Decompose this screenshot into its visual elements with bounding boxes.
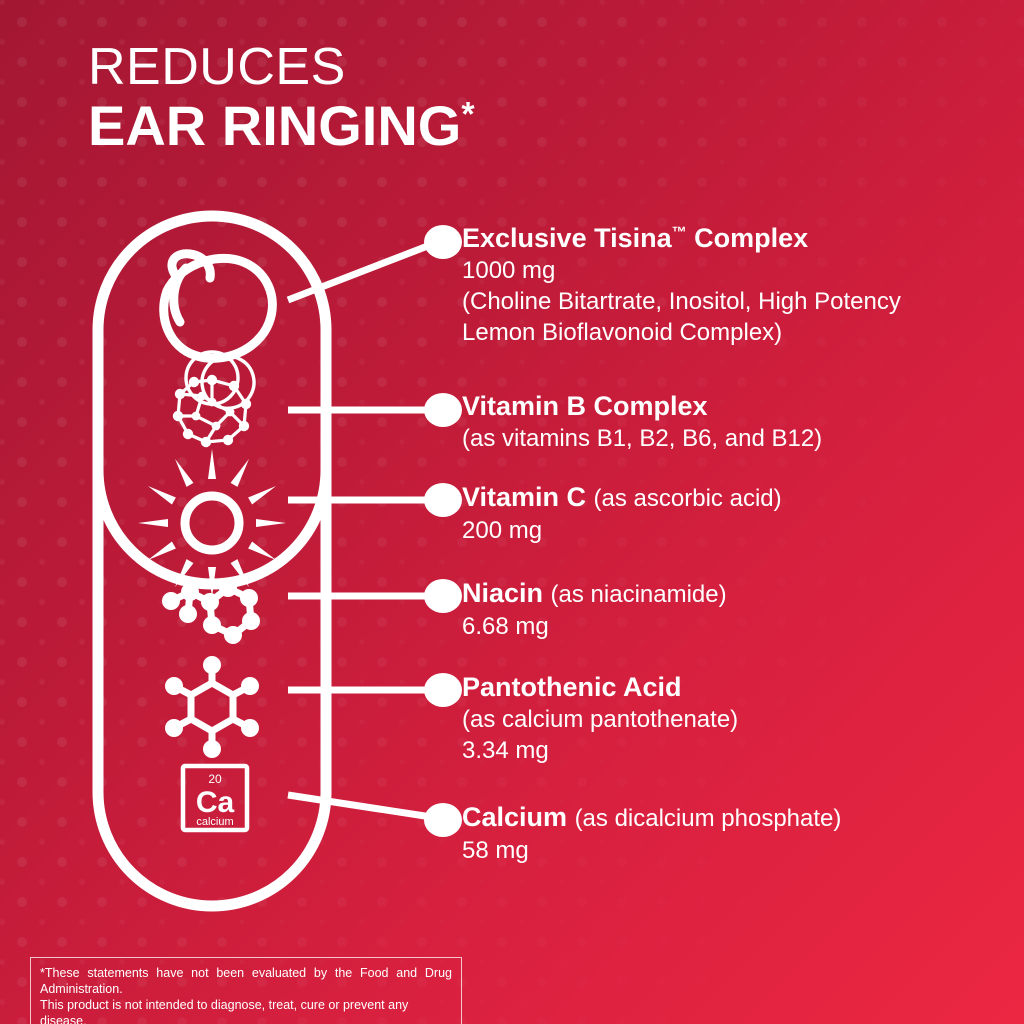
ingredient-subtitle: (as ascorbic acid) xyxy=(594,485,782,512)
ingredient-item-pantothenic-acid: Pantothenic Acid (as calcium pantothenat… xyxy=(462,671,738,766)
bullet-dot-1 xyxy=(424,225,462,259)
calcium-element-icon: 20 Ca calcium xyxy=(183,766,247,830)
ingredient-detail: (Choline Bitartrate, Inositol, High Pote… xyxy=(462,286,901,317)
leader-bullets xyxy=(424,225,462,837)
ingredient-title: Niacin (as niacinamide) xyxy=(462,577,727,611)
ingredient-detail: (as calcium pantothenate) xyxy=(462,704,738,735)
pantothenate-molecule-icon xyxy=(165,656,259,758)
bullet-dot-5 xyxy=(424,673,462,707)
disclaimer-box: *These statements have not been evaluate… xyxy=(30,957,462,1024)
ingredient-title: Vitamin B Complex xyxy=(462,390,822,423)
ingredient-title: Pantothenic Acid xyxy=(462,671,738,704)
ingredient-detail: 6.68 mg xyxy=(462,611,727,642)
poster-root: REDUCES EAR RINGING* xyxy=(0,0,1024,1024)
ingredient-item-vitamin-b: Vitamin B Complex (as vitamins B1, B2, B… xyxy=(462,390,822,454)
element-atomic-number: 20 xyxy=(208,772,222,786)
ingredient-title: Exclusive Tisina™ Complex xyxy=(462,222,901,255)
element-name: calcium xyxy=(196,816,233,828)
ingredient-item-tisina: Exclusive Tisina™ Complex 1000 mg (Choli… xyxy=(462,222,901,348)
ingredient-detail: 200 mg xyxy=(462,515,782,546)
ingredient-detail: 3.34 mg xyxy=(462,735,738,766)
ingredient-detail: 1000 mg xyxy=(462,255,901,286)
leader-line-6 xyxy=(288,795,438,818)
ingredient-title-main: Calcium xyxy=(462,802,567,832)
bullet-dot-6 xyxy=(424,803,462,837)
ingredient-detail: Lemon Bioflavonoid Complex) xyxy=(462,317,901,348)
ingredient-item-niacin: Niacin (as niacinamide) 6.68 mg xyxy=(462,577,727,642)
ingredient-title-tail: Complex xyxy=(687,223,809,253)
ingredient-title-main: Exclusive Tisina xyxy=(462,223,672,253)
ingredient-title: Vitamin C (as ascorbic acid) xyxy=(462,481,782,515)
ingredient-title-main: Niacin xyxy=(462,578,543,608)
ingredient-item-vitamin-c: Vitamin C (as ascorbic acid) 200 mg xyxy=(462,481,782,546)
ingredient-title-main: Vitamin C xyxy=(462,482,586,512)
ingredient-detail: (as vitamins B1, B2, B6, and B12) xyxy=(462,423,822,454)
bullet-dot-4 xyxy=(424,579,462,613)
ingredient-detail: 58 mg xyxy=(462,835,841,866)
bullet-dot-3 xyxy=(424,483,462,517)
bullet-dot-2 xyxy=(424,393,462,427)
trademark-symbol: ™ xyxy=(672,224,687,241)
disclaimer-line-1: *These statements have not been evaluate… xyxy=(40,965,452,997)
ingredient-item-calcium: Calcium (as dicalcium phosphate) 58 mg xyxy=(462,801,841,866)
ingredient-subtitle: (as dicalcium phosphate) xyxy=(575,805,842,832)
ingredient-title: Calcium (as dicalcium phosphate) xyxy=(462,801,841,835)
ingredient-subtitle: (as niacinamide) xyxy=(551,581,727,608)
element-symbol: Ca xyxy=(196,786,235,819)
disclaimer-line-2: This product is not intended to diagnose… xyxy=(40,997,452,1024)
